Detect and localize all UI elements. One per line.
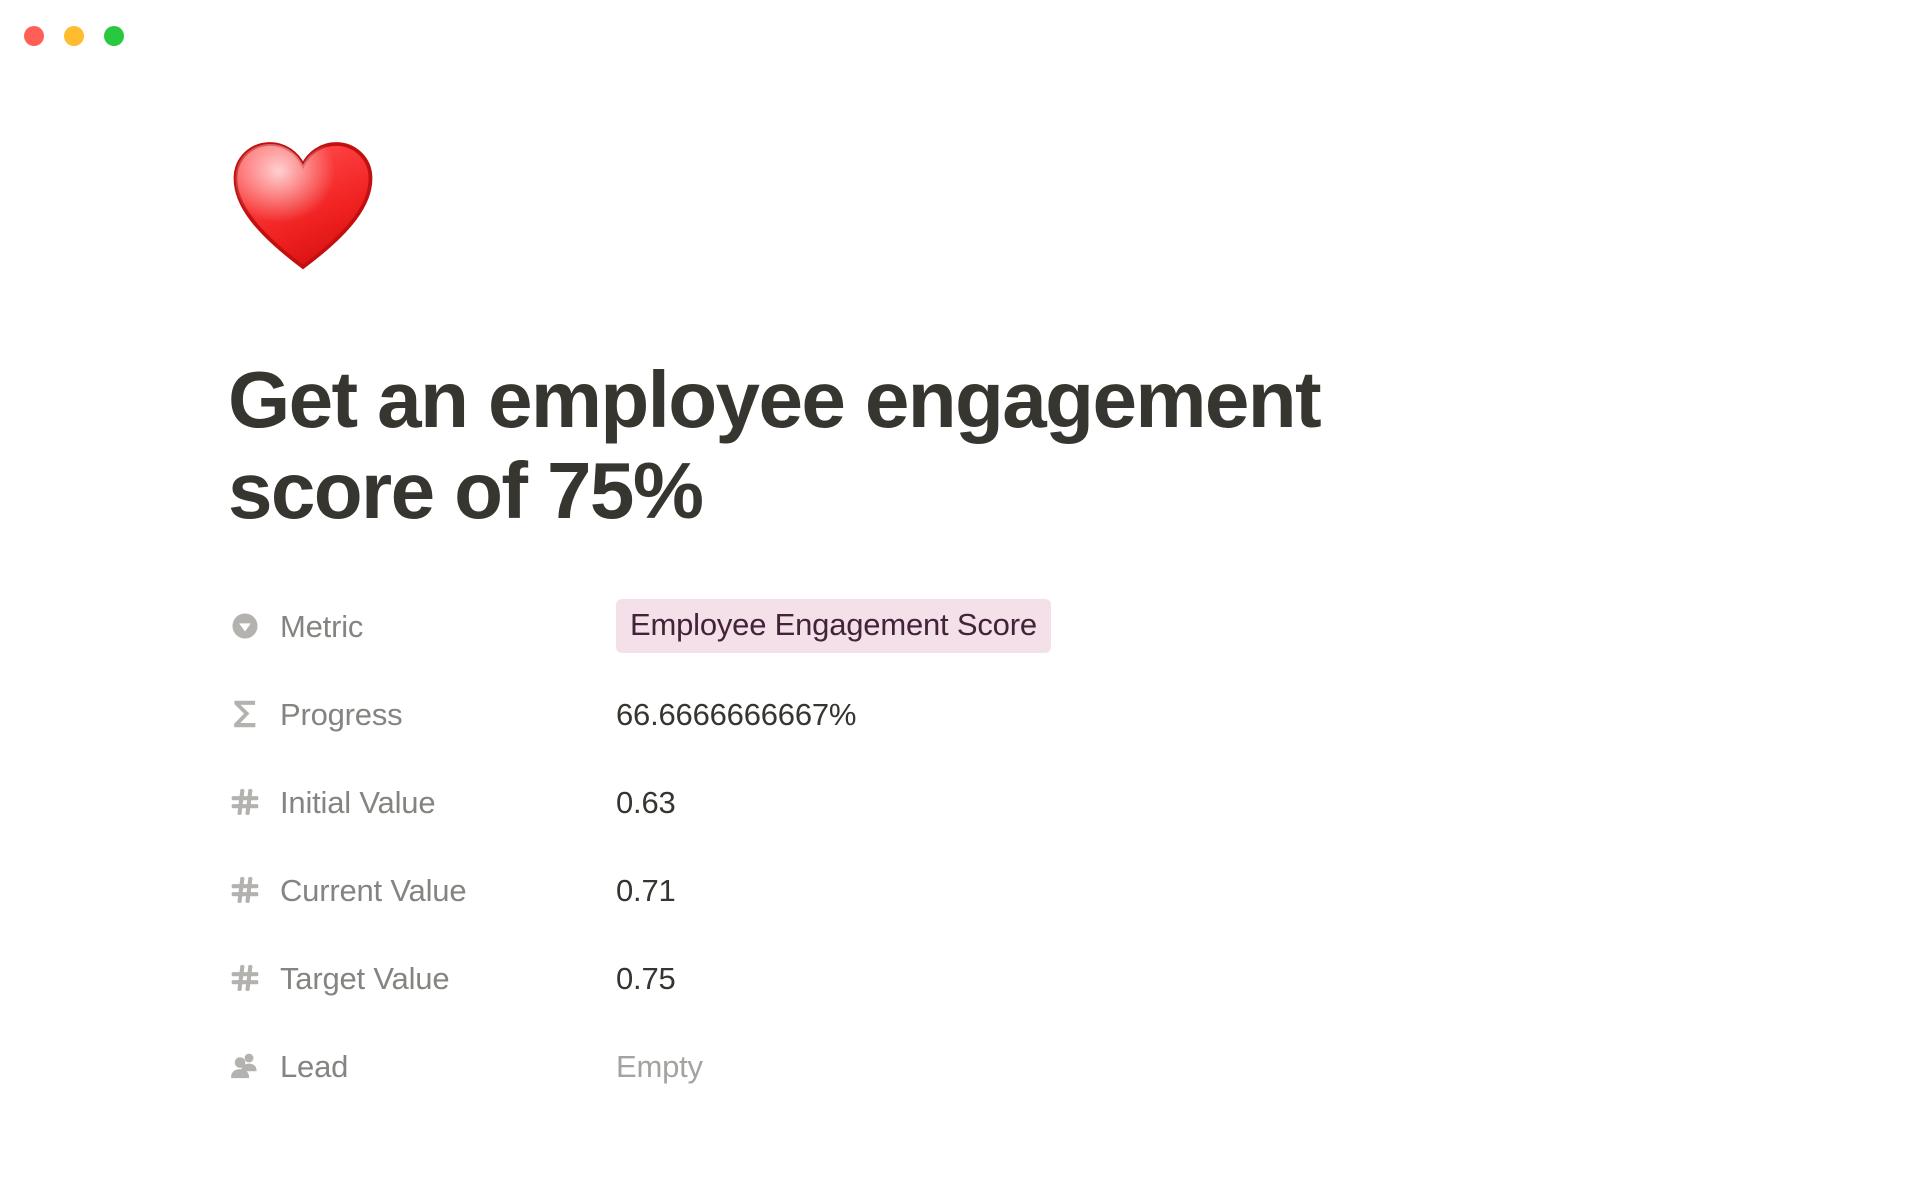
page-title[interactable]: Get an employee engagement score of 75% (228, 354, 1528, 536)
property-row-current-value[interactable]: Current Value 0.71 (228, 846, 1828, 934)
property-name: Target Value (280, 963, 449, 994)
property-value-progress[interactable]: 66.6666666667% (616, 699, 1828, 730)
property-value-target-value[interactable]: 0.75 (616, 963, 1828, 994)
property-label-progress[interactable]: Progress (228, 697, 616, 731)
number-hash-icon (228, 961, 262, 995)
metric-tag[interactable]: Employee Engagement Score (616, 599, 1051, 653)
property-value-current-value[interactable]: 0.71 (616, 875, 1828, 906)
property-label-initial-value[interactable]: Initial Value (228, 785, 616, 819)
page-content: Get an employee engagement score of 75% … (228, 132, 1828, 1110)
property-row-initial-value[interactable]: Initial Value 0.63 (228, 758, 1828, 846)
property-label-metric[interactable]: Metric (228, 609, 616, 643)
property-label-target-value[interactable]: Target Value (228, 961, 616, 995)
number-hash-icon (228, 873, 262, 907)
page-body: Get an employee engagement score of 75% … (0, 72, 1920, 1200)
property-value-initial-value[interactable]: 0.63 (616, 787, 1828, 818)
property-row-lead[interactable]: Lead Empty (228, 1022, 1828, 1110)
maximize-window-button[interactable] (104, 26, 124, 46)
property-name: Current Value (280, 875, 466, 906)
property-label-current-value[interactable]: Current Value (228, 873, 616, 907)
property-value-metric[interactable]: Employee Engagement Score (616, 599, 1828, 653)
formula-sigma-icon (228, 697, 262, 731)
number-hash-icon (228, 785, 262, 819)
property-name: Progress (280, 699, 402, 730)
property-row-progress[interactable]: Progress 66.6666666667% (228, 670, 1828, 758)
close-window-button[interactable] (24, 26, 44, 46)
person-people-icon (228, 1049, 262, 1083)
property-name: Lead (280, 1051, 348, 1082)
minimize-window-button[interactable] (64, 26, 84, 46)
property-row-metric[interactable]: Metric Employee Engagement Score (228, 582, 1828, 670)
red-heart-emoji[interactable] (228, 132, 1828, 300)
traffic-light-controls (24, 26, 124, 46)
property-row-target-value[interactable]: Target Value 0.75 (228, 934, 1828, 1022)
property-name: Initial Value (280, 787, 435, 818)
app-window: Get an employee engagement score of 75% … (0, 0, 1920, 1200)
property-value-lead[interactable]: Empty (616, 1051, 1828, 1082)
window-titlebar (0, 0, 1920, 72)
select-dropdown-icon (228, 609, 262, 643)
property-name: Metric (280, 611, 363, 642)
property-label-lead[interactable]: Lead (228, 1049, 616, 1083)
property-list: Metric Employee Engagement Score (228, 582, 1828, 1110)
